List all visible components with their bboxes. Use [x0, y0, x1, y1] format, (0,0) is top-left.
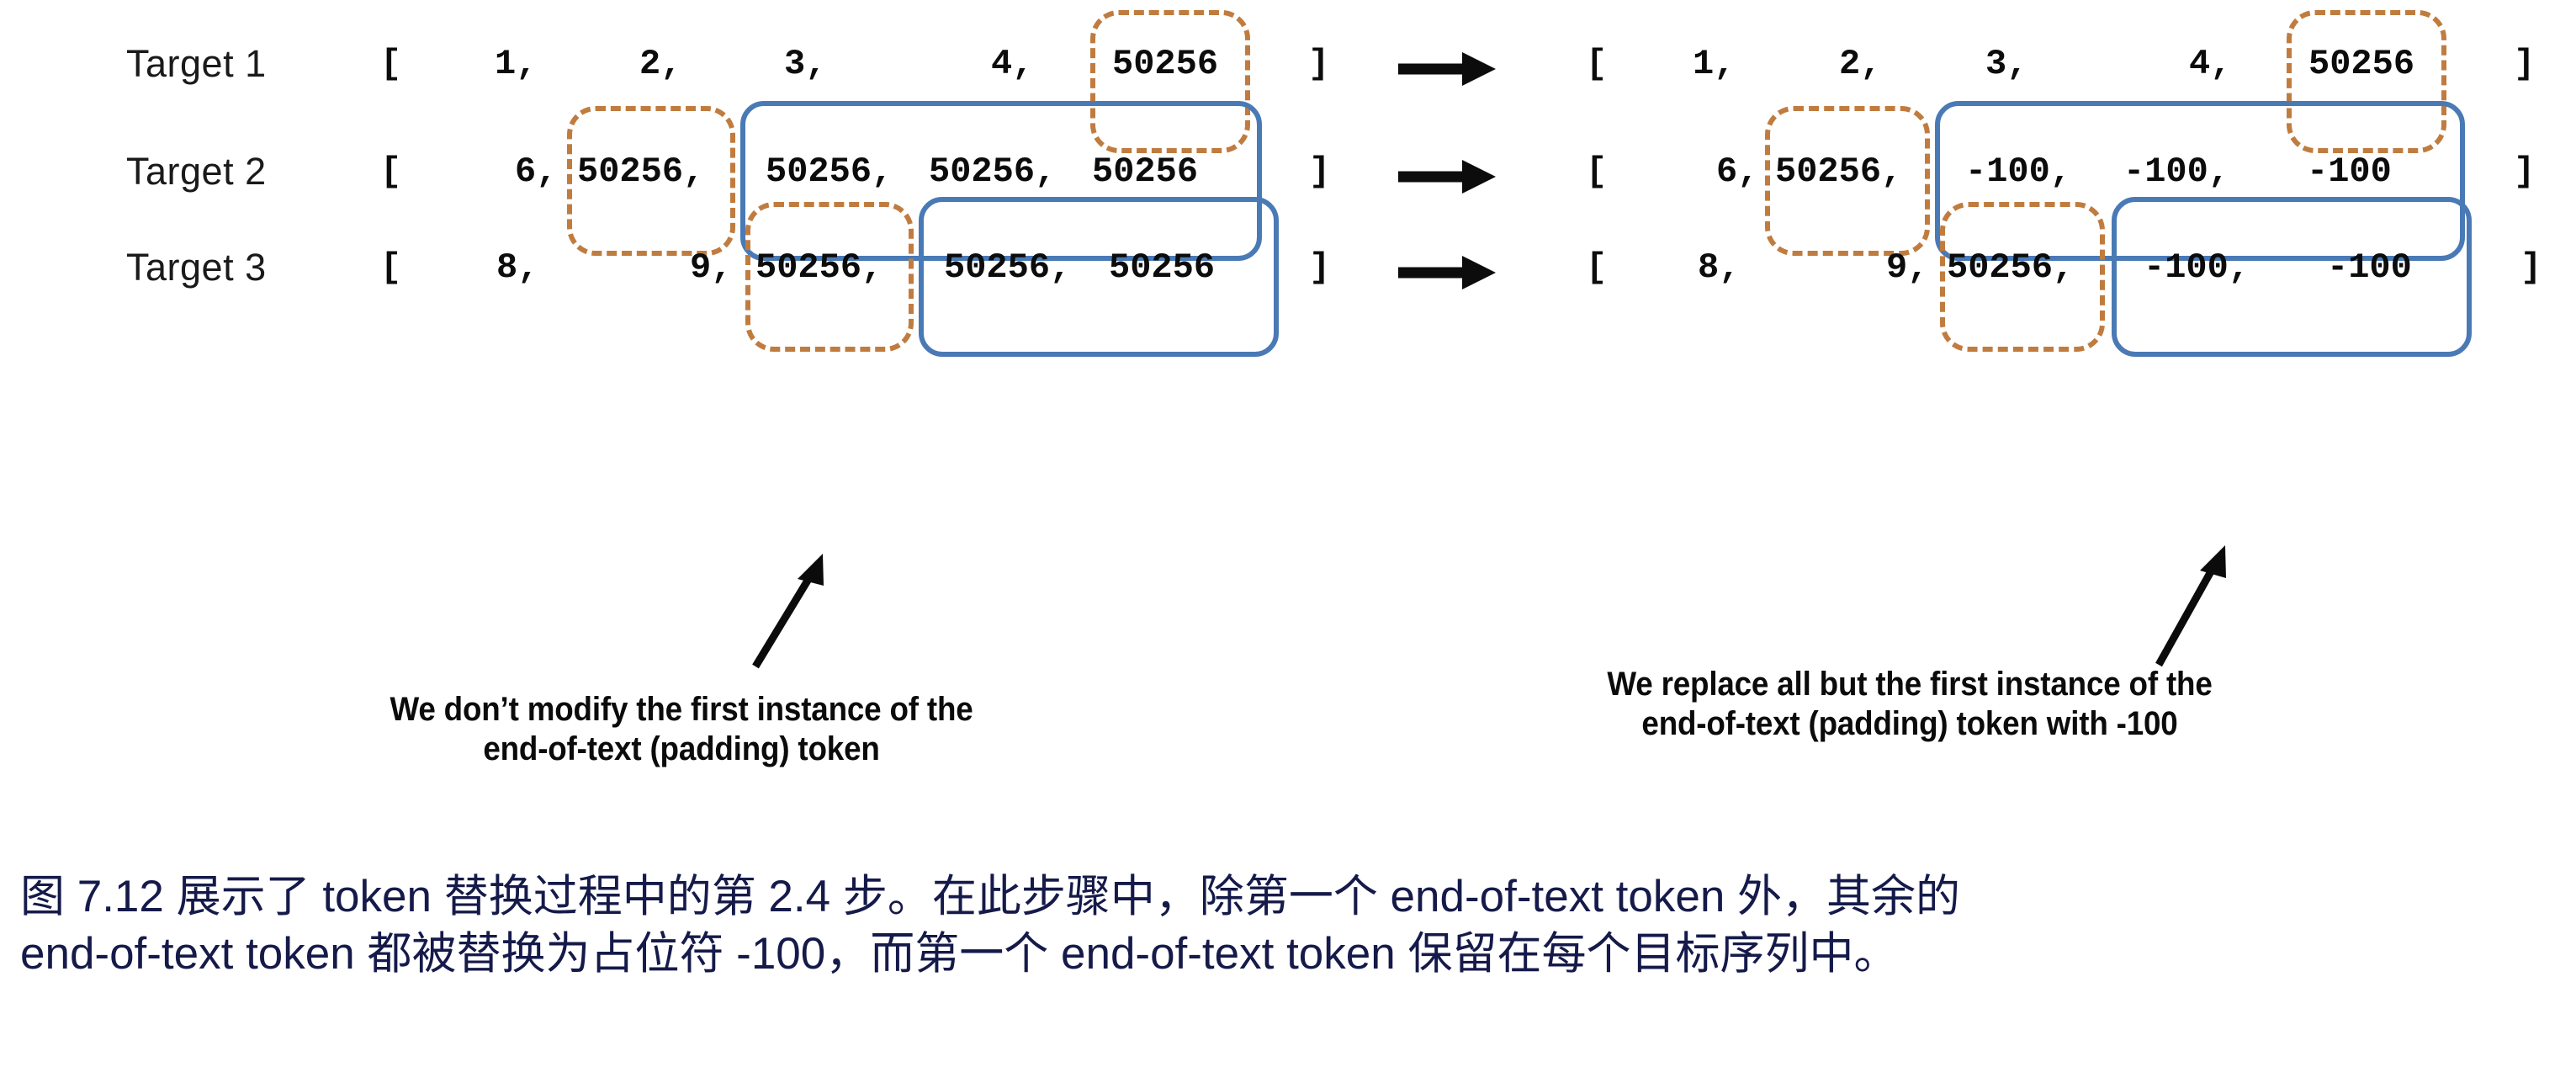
token-after-1-3: 4, [2189, 44, 2231, 84]
row-label-target-2: Target 2 [126, 150, 267, 194]
annotation-right-line2: end-of-text (padding) token with -100 [1460, 704, 2358, 744]
token-before-1-2: 3, [784, 44, 826, 84]
diagram-row-target-3: Target 3 [ 8, 9, 50256, 50256, 50256 ] [… [0, 220, 2576, 321]
caption-line-2: end-of-text token 都被替换为占位符 -100，而第一个 end… [20, 926, 2552, 983]
row-label-target-3: Target 3 [126, 246, 267, 289]
figure-caption: 图 7.12 展示了 token 替换过程中的第 2.4 步。在此步骤中，除第一… [20, 868, 2552, 983]
open-bracket-before-3: [ [380, 247, 401, 288]
close-bracket-before-1: ] [1308, 44, 1329, 84]
dashed-token-after-1: 50256 [2308, 44, 2414, 84]
open-bracket-after-1: [ [1586, 44, 1607, 84]
close-bracket-after-3: ] [2520, 247, 2542, 288]
token-replacement-diagram: Target 1 [ 1, 2, 3, 4, 50256 ] [ 1, 2, 3… [0, 0, 2576, 850]
dashed-token-before-3: 50256, [755, 247, 883, 288]
token-after-1-1: 2, [1839, 44, 1881, 84]
blue-token-after-2-2: -100 [2307, 151, 2392, 192]
row-label-target-1: Target 1 [126, 42, 267, 86]
close-bracket-after-2: ] [2514, 151, 2535, 192]
blue-token-after-3-1: -100 [2327, 247, 2412, 288]
token-before-2-0: 6, [515, 151, 557, 192]
token-before-3-0: 8, [496, 247, 538, 288]
dashed-token-before-2: 50256, [577, 151, 704, 192]
annotation-arrow-left-icon [740, 547, 875, 673]
token-before-3-1: 9, [690, 247, 732, 288]
blue-token-before-2-1: 50256, [929, 151, 1056, 192]
annotation-arrow-right-icon [2147, 539, 2282, 673]
dashed-token-after-2: 50256, [1775, 151, 1902, 192]
token-before-1-3: 4, [991, 44, 1033, 84]
close-bracket-before-2: ] [1309, 151, 1330, 192]
token-before-1-1: 2, [639, 44, 681, 84]
token-after-1-0: 1, [1693, 44, 1735, 84]
blue-token-before-2-0: 50256, [766, 151, 893, 192]
annotation-right-line1: We replace all but the first instance of… [1607, 666, 2212, 703]
token-before-1-0: 1, [495, 44, 537, 84]
caption-line-1: 图 7.12 展示了 token 替换过程中的第 2.4 步。在此步骤中，除第一… [20, 868, 2552, 926]
token-after-3-1: 9, [1886, 247, 1928, 288]
close-bracket-after-1: ] [2514, 44, 2535, 84]
blue-token-after-2-1: -100, [2123, 151, 2229, 192]
open-bracket-after-2: [ [1586, 151, 1607, 192]
token-after-1-2: 3, [1985, 44, 2027, 84]
blue-token-before-3-1: 50256 [1109, 247, 1215, 288]
annotation-left-line2: end-of-text (padding) token [263, 730, 1100, 769]
token-after-3-0: 8, [1698, 247, 1740, 288]
annotation-right: We replace all but the first instance of… [1460, 665, 2358, 744]
right-arrow-icon [1397, 252, 1497, 293]
open-bracket-before-2: [ [380, 151, 401, 192]
open-bracket-after-3: [ [1586, 247, 1607, 288]
token-after-2-0: 6, [1716, 151, 1758, 192]
annotation-left-line1: We don’t modify the first instance of th… [390, 691, 973, 728]
close-bracket-before-3: ] [1309, 247, 1330, 288]
blue-token-after-2-0: -100, [1965, 151, 2071, 192]
blue-token-before-3-0: 50256, [944, 247, 1071, 288]
right-arrow-icon [1397, 157, 1497, 197]
open-bracket-before-1: [ [380, 44, 401, 84]
blue-token-before-2-2: 50256 [1092, 151, 1198, 192]
dashed-token-before-1: 50256 [1112, 44, 1218, 84]
dashed-token-after-3: 50256, [1947, 247, 2074, 288]
annotation-left: We don’t modify the first instance of th… [263, 690, 1100, 769]
right-arrow-icon [1397, 49, 1497, 89]
blue-token-after-3-0: -100, [2144, 247, 2250, 288]
